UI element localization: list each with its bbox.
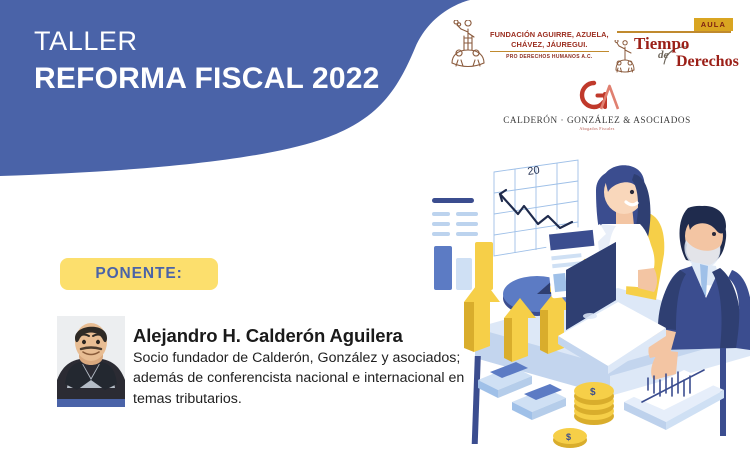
poster-canvas: TALLER REFORMA FISCAL 2022 — [0, 0, 750, 454]
speaker-headshot-photo — [57, 316, 125, 399]
ponente-badge-label: PONENTE: — [95, 265, 182, 283]
speaker-info-block: Alejandro H. Calderón Aguilera Socio fun… — [133, 325, 533, 409]
figure-emblem-icon — [614, 40, 636, 74]
logo-tiempo-de-derechos: AULA — [612, 18, 737, 74]
logo-fundacion-aguirre: FUNDACIÓN AGUIRRE, AZUELA, CHÁVEZ, JÁURE… — [448, 16, 608, 74]
header-title-block: TALLER REFORMA FISCAL 2022 — [34, 26, 380, 97]
logo-tiempo-divider — [617, 31, 731, 33]
ponente-badge: PONENTE: — [60, 258, 218, 290]
logo-fundacion-divider — [490, 51, 609, 52]
illustration-chart-label: 20 — [527, 164, 541, 178]
logo-fundacion-subtitle: PRO DERECHOS HUMANOS A.C. — [506, 54, 593, 60]
logo-group: FUNDACIÓN AGUIRRE, AZUELA, CHÁVEZ, JÁURE… — [440, 14, 740, 139]
page-title: REFORMA FISCAL 2022 — [34, 61, 380, 97]
statue-figure-emblem-icon — [448, 20, 486, 70]
svg-text:$: $ — [590, 387, 596, 398]
speaker-photo-underline — [57, 399, 125, 407]
illustration-coins: $ $ — [553, 382, 614, 448]
logo-calderon-gonzalez: CALDERÓN · GONZÁLEZ & ASOCIADOS Abogados… — [502, 76, 692, 136]
logo-fundacion-text: FUNDACIÓN AGUIRRE, AZUELA, CHÁVEZ, JÁURE… — [490, 30, 609, 60]
logo-fundacion-line2: CHÁVEZ, JÁUREGUI. — [511, 40, 587, 50]
page-subtitle: TALLER — [34, 26, 380, 57]
aula-badge: AULA — [694, 18, 733, 31]
logo-tiempo-wordmark: Tiempo de Derechos — [614, 34, 739, 74]
logo-tiempo-word-derechos: Derechos — [676, 54, 739, 70]
speaker-bio: Socio fundador de Calderón, González y a… — [133, 348, 505, 408]
logo-fundacion-line1: FUNDACIÓN AGUIRRE, AZUELA, — [490, 30, 609, 40]
logo-cga-subtitle: Abogados Fiscales — [579, 126, 614, 131]
logo-tiempo-word-de: de — [658, 50, 668, 61]
svg-text:$: $ — [566, 432, 571, 442]
cga-monogram-icon — [571, 76, 623, 114]
logo-cga-name: CALDERÓN · GONZÁLEZ & ASOCIADOS — [503, 115, 691, 125]
illustration-bar-card — [432, 198, 493, 290]
speaker-name: Alejandro H. Calderón Aguilera — [133, 325, 533, 346]
